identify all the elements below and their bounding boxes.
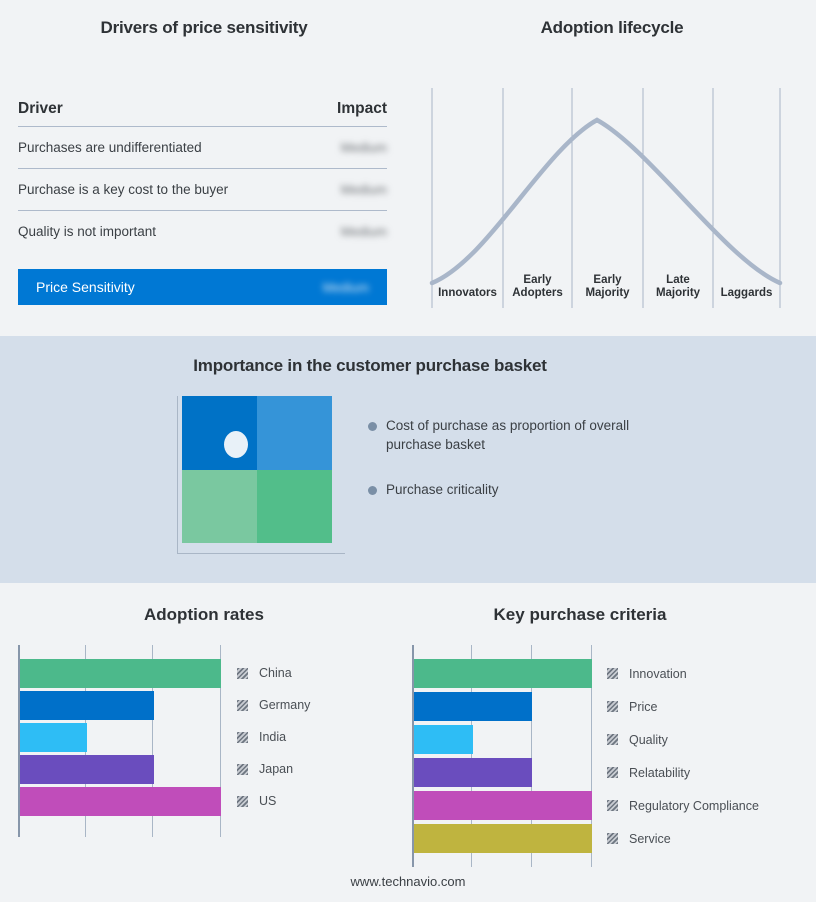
position-bubble-marker xyxy=(224,431,248,458)
hatch-swatch-icon xyxy=(237,732,248,743)
quadrant-bottom-left xyxy=(182,470,257,544)
adoption-bell-curve xyxy=(432,120,780,283)
legend-label-innovation: Innovation xyxy=(629,667,687,681)
legend-label-service: Service xyxy=(629,832,671,846)
criteria-chart: Innovation Price Quality Relatability Re… xyxy=(395,645,816,875)
table-row: Purchase is a key cost to the buyer Medi… xyxy=(18,169,387,210)
bar-japan xyxy=(20,755,154,784)
adoption-rates-panel: Adoption rates China Germany I xyxy=(0,583,408,902)
column-header-impact: Impact xyxy=(317,100,387,118)
key-purchase-criteria-panel: Key purchase criteria Innovation Price xyxy=(395,583,816,902)
legend-label-japan: Japan xyxy=(259,762,293,776)
bullet-icon xyxy=(368,422,377,431)
legend-label-india: India xyxy=(259,730,286,744)
table-row: Purchases are undifferentiated Medium xyxy=(18,127,387,168)
table-row: Quality is not important Medium xyxy=(18,211,387,252)
quadrant-chart xyxy=(170,396,345,561)
legend-label-germany: Germany xyxy=(259,698,310,712)
table-header-row: Driver Impact xyxy=(18,92,387,126)
legend-item: Price xyxy=(607,690,759,723)
legend-label-quality: Quality xyxy=(629,733,668,747)
legend-item: Germany xyxy=(237,689,310,721)
quadrant-top-right xyxy=(257,396,332,470)
hatch-swatch-icon xyxy=(607,668,618,679)
driver-label: Purchase is a key cost to the buyer xyxy=(18,182,228,197)
bar-relatability xyxy=(414,758,532,787)
drivers-panel-title: Drivers of price sensitivity xyxy=(0,18,408,38)
bar-us xyxy=(20,787,221,816)
price-sensitivity-summary-row: Price Sensitivity Medium xyxy=(18,269,387,305)
legend-label-purchase-criticality: Purchase criticality xyxy=(386,480,499,499)
legend-label-cost-of-purchase: Cost of purchase as proportion of overal… xyxy=(386,416,638,454)
legend-item: Relatability xyxy=(607,756,759,789)
bar-india xyxy=(20,723,87,752)
bar-price xyxy=(414,692,532,721)
hatch-swatch-icon xyxy=(237,796,248,807)
column-header-driver: Driver xyxy=(18,100,63,118)
key-purchase-criteria-title: Key purchase criteria xyxy=(395,605,765,625)
importance-in-purchase-basket-panel: Importance in the customer purchase bask… xyxy=(0,336,816,583)
legend-item: Japan xyxy=(237,753,310,785)
price-sensitivity-label: Price Sensitivity xyxy=(36,279,135,295)
hatch-swatch-icon xyxy=(607,701,618,712)
legend-label-regulatory-compliance: Regulatory Compliance xyxy=(629,799,759,813)
quadrant-top-left xyxy=(182,396,257,470)
legend-item: Service xyxy=(607,822,759,855)
impact-value-redacted: Medium xyxy=(341,224,387,239)
legend-item: Innovation xyxy=(607,657,759,690)
legend-item: Purchase criticality xyxy=(368,480,668,499)
lifecycle-panel-title: Adoption lifecycle xyxy=(408,18,816,38)
legend-label-relatability: Relatability xyxy=(629,766,690,780)
legend-item: India xyxy=(237,721,310,753)
segment-label-early-majority: Early Majority xyxy=(572,274,643,300)
segment-label-early-adopters: Early Adopters xyxy=(503,274,572,300)
adoption-lifecycle-panel: Adoption lifecycle Innovators Early Adop… xyxy=(408,0,816,336)
adoption-plot-area xyxy=(18,645,221,837)
legend-label-us: US xyxy=(259,794,276,808)
hatch-swatch-icon xyxy=(607,833,618,844)
bar-china xyxy=(20,659,221,688)
driver-label: Quality is not important xyxy=(18,224,156,239)
legend-item: Quality xyxy=(607,723,759,756)
hatch-swatch-icon xyxy=(607,800,618,811)
bar-germany xyxy=(20,691,154,720)
importance-legend: Cost of purchase as proportion of overal… xyxy=(368,416,668,525)
adoption-legend: China Germany India Japan US xyxy=(237,657,310,817)
bar-innovation xyxy=(414,659,592,688)
hatch-swatch-icon xyxy=(237,668,248,679)
quadrant-y-axis xyxy=(177,396,178,554)
legend-label-price: Price xyxy=(629,700,657,714)
adoption-rates-title: Adoption rates xyxy=(0,605,408,625)
legend-item: Regulatory Compliance xyxy=(607,789,759,822)
bar-regulatory-compliance xyxy=(414,791,592,820)
quadrant-grid xyxy=(182,396,332,543)
segment-label-late-majority: Late Majority xyxy=(643,274,713,300)
price-sensitivity-impact-redacted: Medium xyxy=(323,280,369,295)
bar-service xyxy=(414,824,592,853)
drivers-of-price-sensitivity-panel: Drivers of price sensitivity Driver Impa… xyxy=(0,0,408,336)
impact-value-redacted: Medium xyxy=(341,140,387,155)
hatch-swatch-icon xyxy=(607,734,618,745)
legend-label-china: China xyxy=(259,666,292,680)
importance-panel-title: Importance in the customer purchase bask… xyxy=(0,356,740,376)
segment-label-innovators: Innovators xyxy=(432,287,503,300)
legend-item: US xyxy=(237,785,310,817)
bullet-icon xyxy=(368,486,377,495)
quadrant-x-axis xyxy=(177,553,345,554)
legend-item: China xyxy=(237,657,310,689)
bar-quality xyxy=(414,725,473,754)
criteria-legend: Innovation Price Quality Relatability Re… xyxy=(607,657,759,855)
driver-label: Purchases are undifferentiated xyxy=(18,140,202,155)
adoption-rates-chart: China Germany India Japan US xyxy=(0,645,408,845)
impact-value-redacted: Medium xyxy=(341,182,387,197)
quadrant-bottom-right xyxy=(257,470,332,544)
hatch-swatch-icon xyxy=(607,767,618,778)
footer-url: www.technavio.com xyxy=(0,874,816,889)
hatch-swatch-icon xyxy=(237,700,248,711)
hatch-swatch-icon xyxy=(237,764,248,775)
drivers-table: Driver Impact Purchases are undifferenti… xyxy=(18,92,387,305)
legend-item: Cost of purchase as proportion of overal… xyxy=(368,416,668,454)
segment-label-laggards: Laggards xyxy=(713,287,780,300)
criteria-plot-area xyxy=(412,645,592,867)
